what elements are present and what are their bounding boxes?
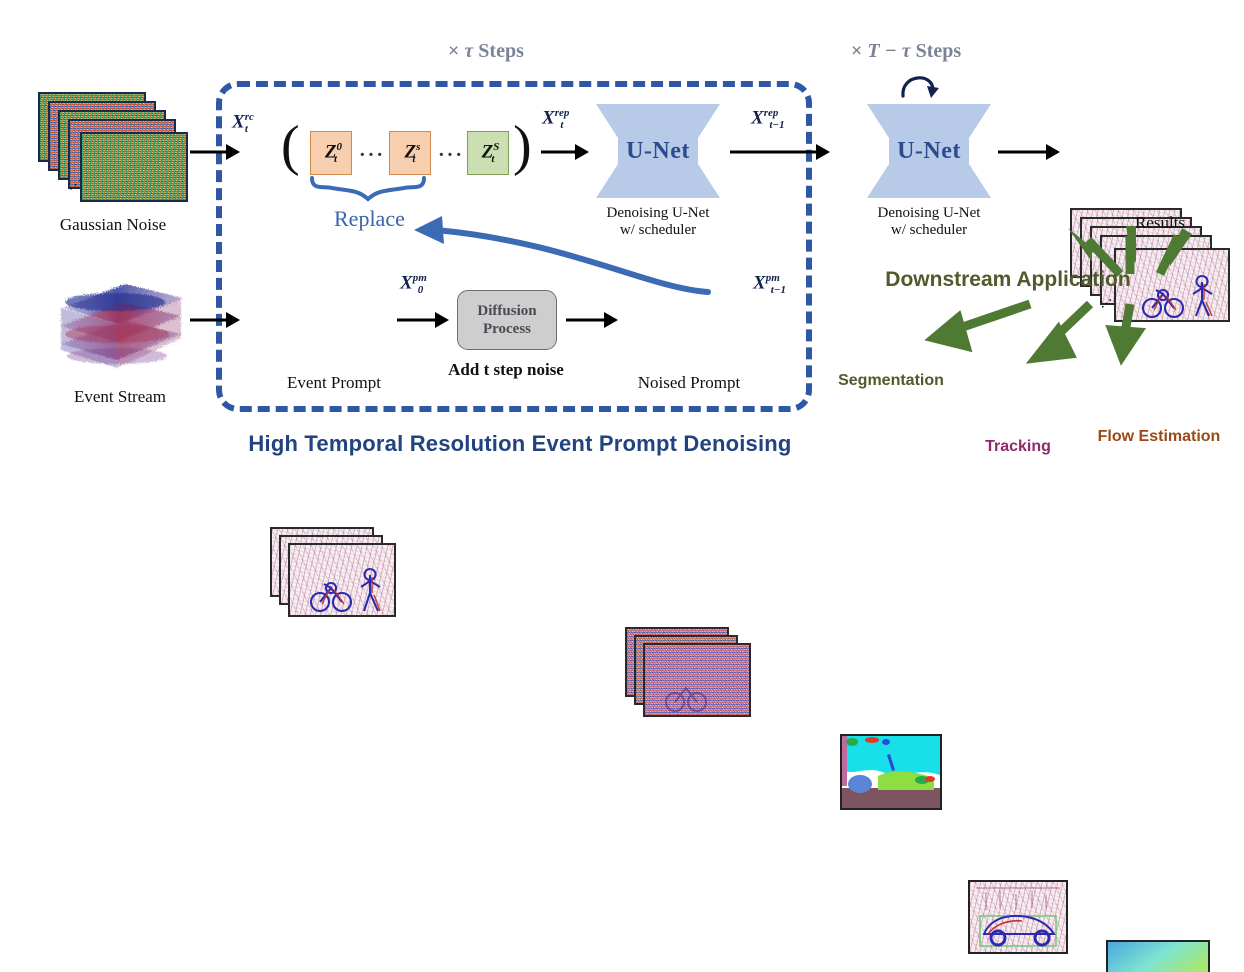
open-paren: ( <box>281 118 300 174</box>
segmentation-thumbnail[interactable] <box>840 734 942 810</box>
tracking-thumbnail[interactable] <box>968 880 1068 954</box>
label-x-rc-t: Xrct <box>232 112 248 135</box>
replace-feedback-arrow <box>318 196 718 306</box>
event-prompt-stack <box>270 527 400 627</box>
event-prompt-scene-icon <box>290 545 396 617</box>
latent-box-z0: Z0t <box>310 131 352 175</box>
event-prompt-label: Event Prompt <box>268 373 400 393</box>
label-x-rep-tm1: Xrept−1 <box>751 108 785 131</box>
arrow-noise-to-box <box>190 140 240 164</box>
segmentation-image <box>842 736 942 810</box>
latent-ellipsis-1: ··· <box>359 144 385 167</box>
unet-right-caption-line1: Denoising U-Net <box>867 205 991 222</box>
downstream-title: Downstream Application <box>885 268 1130 292</box>
tracking-label: Tracking <box>958 438 1078 456</box>
event-stream-label: Event Stream <box>40 387 200 407</box>
latent-box-zS: ZSt <box>467 131 509 175</box>
flow-estimation-image <box>1108 942 1210 972</box>
noised-prompt-stack <box>625 627 755 727</box>
event-stream-svg <box>45 272 195 382</box>
unet-loop-arrow-icon <box>897 66 943 100</box>
segmentation-label: Segmentation <box>830 372 952 390</box>
arrow-diffusion-to-noised <box>566 308 618 332</box>
unet-left-label: U-Net <box>596 104 720 198</box>
diffusion-line2: Process <box>477 320 536 338</box>
figure-title: High Temporal Resolution Event Prompt De… <box>0 431 1040 457</box>
unet-right[interactable]: U-Net <box>867 104 991 198</box>
unet-left[interactable]: U-Net <box>596 104 720 198</box>
tracking-image <box>970 882 1068 954</box>
close-paren: ) <box>513 118 532 174</box>
event-stream-visualization <box>45 272 195 382</box>
add-noise-caption: Add t step noise <box>443 360 569 380</box>
t-minus-tau-steps-caption: × T − τ Steps <box>851 40 961 63</box>
latent-ellipsis-2: ··· <box>438 144 464 167</box>
arrow-prompt-to-diffusion <box>397 308 449 332</box>
latent-box-zs-label: Zst <box>405 141 416 165</box>
arrow-events-to-box <box>190 308 240 332</box>
arrow-unet-left-out <box>730 140 830 164</box>
latent-box-zS-label: ZSt <box>482 141 495 165</box>
arrow-unet-right-to-results <box>998 140 1060 164</box>
flow-estimation-label: Flow Estimation <box>1094 428 1224 446</box>
latent-box-zs: Zst <box>389 131 431 175</box>
label-x-pm-tm1: Xpmt−1 <box>753 273 786 296</box>
label-x-rep-t: Xrept <box>542 108 563 131</box>
noised-prompt-label: Noised Prompt <box>623 373 755 393</box>
noised-prompt-scene-icon <box>645 645 751 717</box>
tau-steps-caption: × τ Steps <box>448 40 524 63</box>
arrow-latent-to-unet <box>541 140 589 164</box>
unet-right-label: U-Net <box>867 104 991 198</box>
flow-estimation-thumbnail[interactable] <box>1106 940 1210 972</box>
gaussian-noise-stack: ··· <box>38 92 188 212</box>
latent-box-z0-label: Z0t <box>325 141 337 165</box>
gaussian-noise-label: Gaussian Noise <box>28 215 198 235</box>
